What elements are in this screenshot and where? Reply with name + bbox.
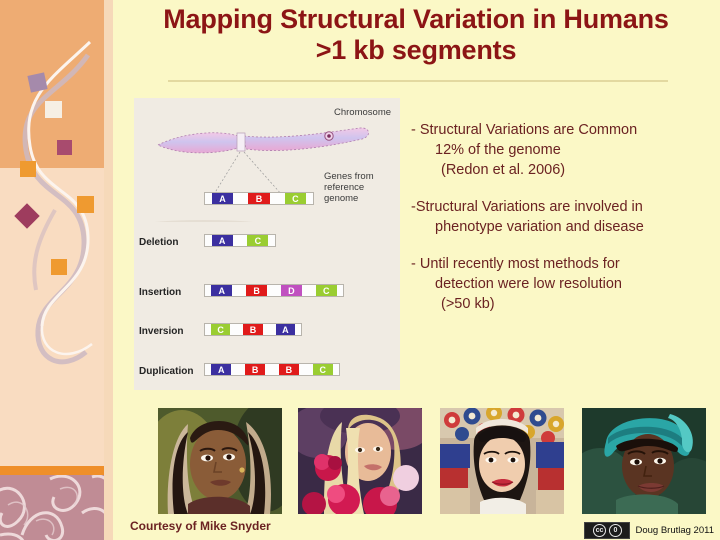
insertion-spacer (302, 285, 316, 296)
insertion-spacer (267, 285, 281, 296)
inversion-gene-b: B (243, 324, 262, 335)
row-label-deletion: Deletion (139, 237, 178, 248)
portrait-south-asian-woman (158, 408, 282, 514)
cc-icon: cc (593, 524, 606, 537)
structural-variation-diagram: Chromosome Genes from reference genome (134, 98, 400, 390)
copyright-credit: cc 0 Doug Brutlag 2011 (584, 522, 714, 539)
reference-gene-a: A (212, 193, 234, 204)
inversion-gene-c: C (211, 324, 230, 335)
insertion-gene-b: B (246, 285, 267, 296)
reference-gene-c: C (285, 193, 307, 204)
bullet-line: 12% of the genome (411, 140, 711, 160)
inversion-spacer (295, 324, 301, 335)
sidebar-orange-divider (0, 466, 113, 475)
row-label-inversion: Inversion (139, 326, 183, 337)
sidebar-edge-strip (104, 0, 113, 540)
bullet-line: - Structural Variations are Common (411, 120, 711, 140)
sidebar-square-cream (45, 101, 62, 118)
decorative-sidebar (0, 0, 113, 540)
inversion-spacer (230, 324, 243, 335)
deletion-gene-c: C (247, 235, 268, 246)
deletion-spacer (233, 235, 248, 246)
bullet-line: phenotype variation and disease (411, 217, 711, 237)
deletion-spacer (205, 235, 212, 246)
bullet-line: detection were low resolution (411, 274, 711, 294)
insertion-gene-c: C (316, 285, 337, 296)
courtesy-credit: Courtesy of Mike Snyder (130, 519, 271, 533)
sidebar-square-orange-1 (20, 161, 36, 177)
bullet-group: -Structural Variations are involved inph… (411, 197, 711, 237)
duplication-gene-b: B (279, 364, 299, 375)
sidebar-square-mauve-1 (27, 72, 47, 92)
deletion-spacer (268, 235, 275, 246)
duplication-spacer (299, 364, 313, 375)
sidebar-square-maroon-1 (57, 140, 72, 155)
duplication-gene-b: B (245, 364, 265, 375)
reference-spacer (205, 193, 212, 204)
title-line-2: >1 kb segments (118, 35, 714, 66)
page-title: Mapping Structural Variation in Humans >… (118, 4, 714, 66)
credit-text: Doug Brutlag 2011 (635, 525, 714, 536)
insertion-spacer (337, 285, 343, 296)
sidebar-square-orange-3 (51, 259, 67, 275)
bullet-line: -Structural Variations are involved in (411, 197, 711, 217)
bullet-group: - Structural Variations are Common12% of… (411, 120, 711, 180)
portrait-photo-strip (158, 408, 714, 514)
row-bar-inversion: CBA (204, 323, 302, 336)
sidebar-pattern-footer (0, 475, 113, 540)
row-bar-insertion: ABDC (204, 284, 344, 297)
row-label-insertion: Insertion (139, 287, 181, 298)
bullet-group: - Until recently most methods fordetecti… (411, 254, 711, 314)
chromosome-illustration (134, 112, 400, 222)
duplication-gene-c: C (313, 364, 333, 375)
inversion-gene-a: A (276, 324, 295, 335)
bullet-list: - Structural Variations are Common12% of… (411, 120, 711, 331)
row-label-duplication: Duplication (139, 366, 193, 377)
title-divider (168, 80, 668, 82)
duplication-spacer (333, 364, 339, 375)
insertion-gene-a: A (211, 285, 232, 296)
cc-zero-icon: 0 (609, 524, 622, 537)
reference-gene-b: B (248, 193, 270, 204)
reference-genome-label: Genes from reference genome (324, 171, 394, 204)
slide: Mapping Structural Variation in Humans >… (0, 0, 720, 540)
reference-genome-bar: ABC (204, 192, 314, 205)
creative-commons-badge-icon: cc 0 (584, 522, 630, 539)
bullet-line: - Until recently most methods for (411, 254, 711, 274)
inversion-spacer (263, 324, 276, 335)
duplication-spacer (231, 364, 245, 375)
reference-spacer (306, 193, 313, 204)
deletion-gene-a: A (212, 235, 233, 246)
portrait-blonde-woman-with-flowers (298, 408, 422, 514)
bullet-line: (>50 kb) (411, 294, 711, 314)
bullet-line: (Redon et al. 2006) (411, 160, 711, 180)
reference-spacer (270, 193, 285, 204)
portrait-african-woman-headscarf (582, 408, 706, 514)
row-bar-duplication: ABBC (204, 363, 340, 376)
duplication-gene-a: A (211, 364, 231, 375)
portrait-east-asian-woman-headdress (440, 408, 564, 514)
title-line-1: Mapping Structural Variation in Humans (118, 4, 714, 35)
insertion-gene-d: D (281, 285, 302, 296)
insertion-spacer (232, 285, 246, 296)
row-bar-deletion: AC (204, 234, 276, 247)
sidebar-square-orange-2 (77, 196, 94, 213)
duplication-spacer (265, 364, 279, 375)
reference-spacer (233, 193, 248, 204)
